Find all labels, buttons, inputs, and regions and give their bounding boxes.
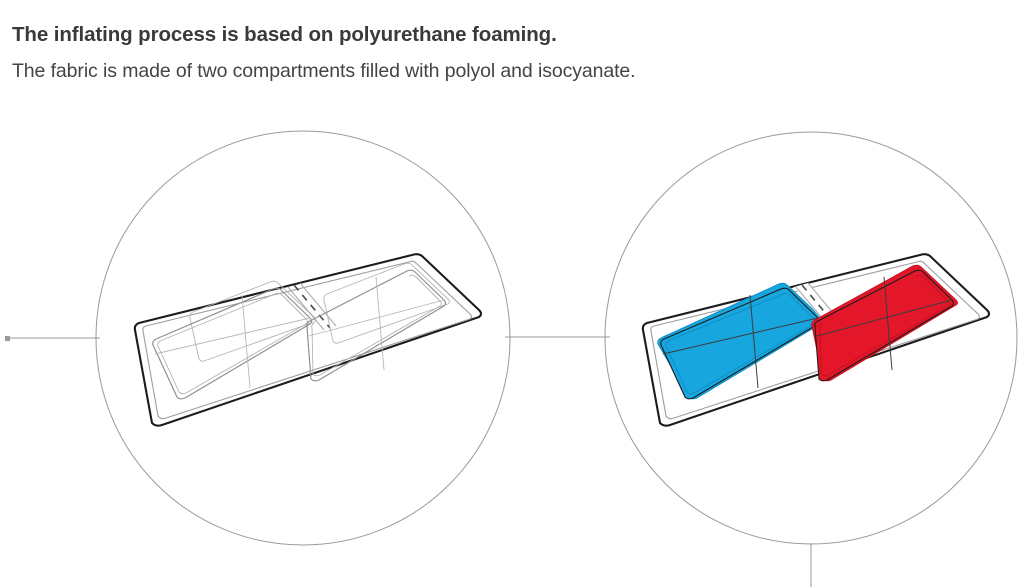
connector-left-endpoint-dot [5, 336, 10, 341]
illustration-figure [0, 0, 1024, 587]
fabric-panel-filled [643, 254, 989, 425]
slide-root: The inflating process is based on polyur… [0, 0, 1024, 587]
fabric-panel-empty [135, 254, 481, 425]
